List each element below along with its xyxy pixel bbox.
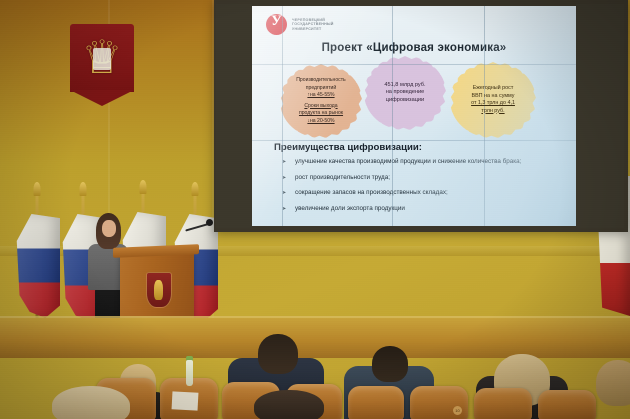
seat[interactable] [348,386,404,419]
gear-text-line: на 45-55% [296,92,345,100]
slide-content: ЧЕРЕПОВЕЦКИЙ ГОСУДАРСТВЕННЫЙ УНИВЕРСИТЕТ… [252,6,576,226]
gear-text-line: продукта на рынок [296,110,345,118]
gear-callout-gdp-growth: Ежегодный рост ВВП на на сумму от 1,3 тр… [454,66,532,134]
gear-text-line: на проведение [384,89,425,97]
gear-text-line: Сроки выхода [296,103,345,111]
flag-finial-icon [80,182,87,196]
gear-text-line: цифровизации [384,97,425,105]
flag-finial-icon [34,182,41,196]
gear-text-line: Ежегодный рост [471,85,515,93]
seat[interactable] [474,388,532,419]
flag-finial-icon [140,180,147,194]
gear-infographic-group: Производительность предприятий на 45-55%… [272,66,562,134]
gear-text-line: от 1,3 трлн до 4,1 [471,100,515,108]
gear-callout-investment: 451,8 млрд руб. на проведение цифровизац… [368,60,442,126]
slide-title: Проект «Цифровая экономика» [252,42,576,54]
audience-member-front-left [52,386,130,419]
benefits-list: улучшение качества производимой продукци… [282,158,570,220]
paper-sheet-2 [172,391,199,410]
gear-text-line: трлн руб. [471,108,515,116]
logo-line-3: УНИВЕРСИТЕТ [292,27,334,32]
university-logo: ЧЕРЕПОВЕЦКИЙ ГОСУДАРСТВЕННЫЙ УНИВЕРСИТЕТ [266,14,334,35]
conference-hall-photo: ♕ [0,0,630,419]
flag-cloth [14,214,60,318]
video-wall-panel-seam [282,6,283,226]
audience-head [372,346,408,382]
video-wall-panel-seam [252,64,576,65]
gear-text-line: предприятий [296,85,345,93]
microphone-head-icon [206,219,213,226]
flag-finial-icon [192,182,199,196]
seat[interactable]: 10 [410,386,468,419]
gear-callout-productivity: Производительность предприятий на 45-55%… [284,68,358,134]
gear-callout-productivity-text: Производительность предприятий на 45-55%… [296,77,345,125]
eagle-center-escutcheon [93,48,111,70]
university-logo-text: ЧЕРЕПОВЕЦКИЙ ГОСУДАРСТВЕННЫЙ УНИВЕРСИТЕТ [292,18,334,32]
gear-text-line: Производительность [296,77,345,85]
benefits-heading: Преимущества цифровизации: [274,142,422,153]
audience-area: 10 [0,330,630,419]
vologda-oblast-coat-of-arms [146,272,172,308]
audience-member-front-center [254,390,324,419]
benefit-item: сокращение запасов на производственных с… [282,189,570,197]
presenter-face [102,220,116,237]
presentation-screen: ЧЕРЕПОВЕЦКИЙ ГОСУДАРСТВЕННЫЙ УНИВЕРСИТЕТ… [252,6,576,226]
benefit-item: улучшение качества производимой продукци… [282,158,570,166]
gear-text-line: на 20-50% [296,118,345,126]
russian-tricolor-flag-1 [14,196,60,336]
russian-federation-coat-of-arms: ♕ [70,24,134,104]
seat-number: 10 [453,406,462,415]
gear-callout-investment-text: 451,8 млрд руб. на проведение цифровизац… [384,82,425,105]
video-wall-panel-seam [484,6,485,226]
gear-text-line: 451,8 млрд руб. [384,82,425,90]
video-wall-bezel-left [216,4,252,228]
seat[interactable] [538,390,596,419]
audience-head [258,334,298,374]
video-wall-bezel-right [576,4,624,228]
audience-member-right-edge [596,360,630,406]
university-logo-mark-icon [266,14,287,35]
benefit-item: рост производительности труда; [282,174,570,182]
water-bottle [186,360,193,386]
gear-callout-gdp-growth-text: Ежегодный рост ВВП на на сумму от 1,3 тр… [471,85,515,115]
video-wall-panel-seam [392,6,393,226]
benefit-item: увеличение доли экспорта продукции [282,205,570,213]
gear-text-line: ВВП на на сумму [471,93,515,101]
video-wall-panel-seam [252,140,576,141]
